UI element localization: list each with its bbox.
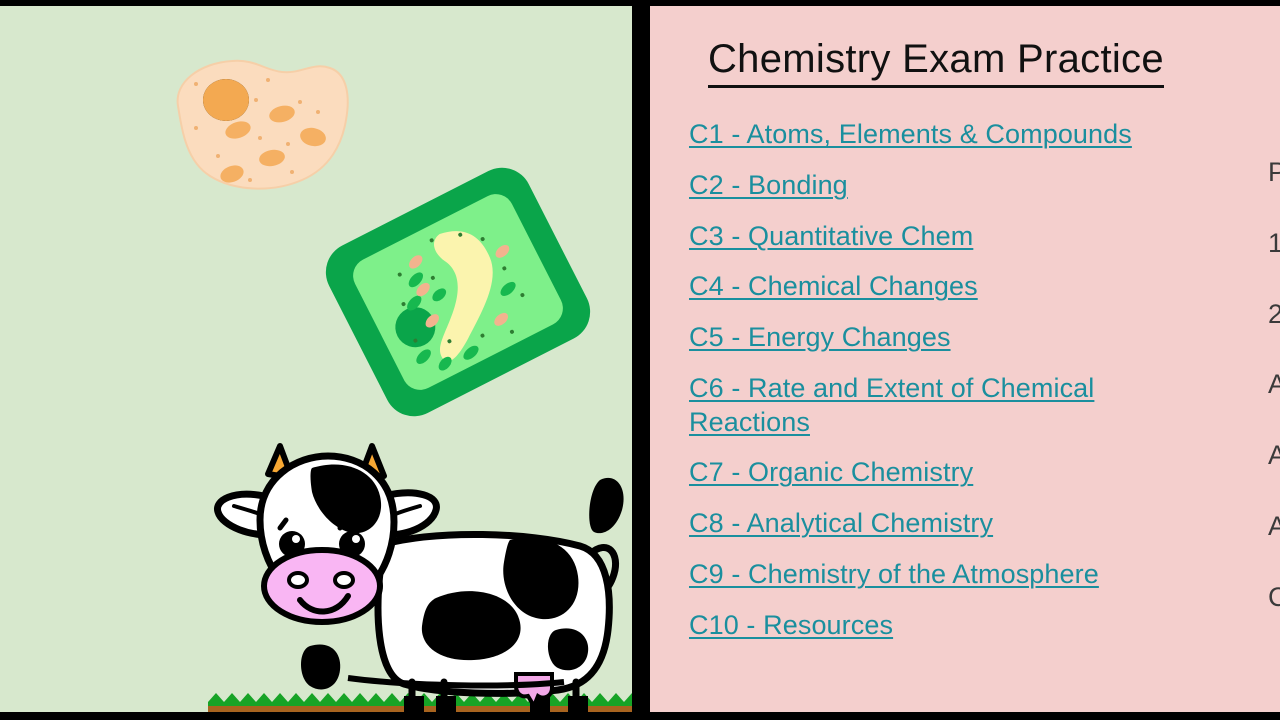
chapter-link-c3[interactable]: C3 - Quantitative Chem xyxy=(689,220,1249,254)
clipped-text-fragment: C xyxy=(1268,581,1280,615)
chapter-link-c10[interactable]: C10 - Resources xyxy=(689,609,1249,643)
plant-cell-diagram xyxy=(318,146,598,438)
page-title: Chemistry Exam Practice xyxy=(708,38,1164,88)
clipped-second-column: P 1 2 A A A C xyxy=(1268,156,1280,651)
chapter-link-c8[interactable]: C8 - Analytical Chemistry xyxy=(689,507,1249,541)
slide-viewer: P t: w: Ten 1 markers ve 2 markers t one… xyxy=(0,0,1280,720)
clipped-text-fragment: 2 xyxy=(1268,298,1280,332)
chapter-link-c1[interactable]: C1 - Atoms, Elements & Compounds xyxy=(689,118,1249,152)
chapter-link-list: C1 - Atoms, Elements & Compounds C2 - Bo… xyxy=(689,118,1249,659)
chapter-link-c2[interactable]: C2 - Bonding xyxy=(689,169,1249,203)
left-slide-panel[interactable]: P t: w: Ten 1 markers ve 2 markers t one… xyxy=(0,6,632,712)
clipped-text-fragment: A xyxy=(1268,439,1280,473)
vertical-scrollbar-track[interactable] xyxy=(632,0,650,720)
clipped-text-fragment: A xyxy=(1268,510,1280,544)
clipped-text-fragment: P xyxy=(1268,156,1280,190)
chapter-link-c9[interactable]: C9 - Chemistry of the Atmosphere xyxy=(689,558,1249,592)
chapter-link-c5[interactable]: C5 - Energy Changes xyxy=(689,321,1249,355)
chapter-link-c4[interactable]: C4 - Chemical Changes xyxy=(689,270,1249,304)
chapter-link-c7[interactable]: C7 - Organic Chemistry xyxy=(689,456,1249,490)
right-slide-panel[interactable]: Chemistry Exam Practice C1 - Atoms, Elem… xyxy=(650,6,1280,712)
chapter-link-c6[interactable]: C6 - Rate and Extent of Chemical Reactio… xyxy=(689,372,1169,440)
cow-illustration xyxy=(208,434,632,712)
clipped-text-fragment: 1 xyxy=(1268,227,1280,261)
clipped-text-fragment: A xyxy=(1268,368,1280,402)
